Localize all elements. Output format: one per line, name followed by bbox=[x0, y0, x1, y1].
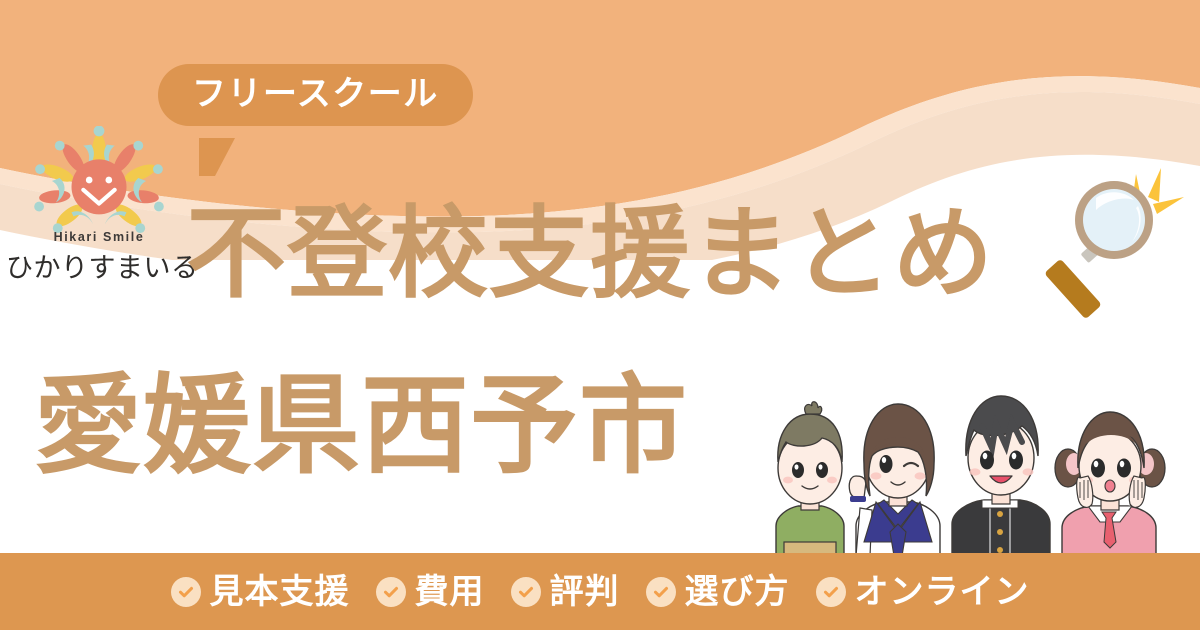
check-circle-icon bbox=[511, 577, 541, 607]
tag-label: オンライン bbox=[855, 575, 1030, 609]
check-circle-icon bbox=[376, 577, 406, 607]
magnifier-lens bbox=[1075, 181, 1153, 259]
logo-jp-text: ひかりすまいる bbox=[6, 246, 192, 285]
four-students-illustration bbox=[744, 356, 1196, 556]
tag-item: 評判 bbox=[511, 575, 620, 609]
student-boy-gakuran-uniform bbox=[952, 396, 1050, 556]
check-circle-icon bbox=[171, 577, 201, 607]
badge-bubble-tail bbox=[199, 138, 235, 176]
headline-line-2: 愛媛県西予市 bbox=[34, 372, 688, 480]
check-circle-icon bbox=[646, 577, 676, 607]
headline-line-1: 不登校支援まとめ bbox=[186, 204, 994, 304]
tag-item: 費用 bbox=[376, 575, 485, 609]
brand-logo: Hikari Smile ひかりすまいる bbox=[6, 126, 192, 285]
student-boy-green-shirt bbox=[776, 402, 844, 556]
tag-label: 見本支援 bbox=[210, 575, 350, 609]
tag-item: 選び方 bbox=[646, 575, 790, 609]
thumbnail-canvas: Hikari Smile ひかりすまいる フリースクール 不登校支援まとめ 愛媛… bbox=[0, 0, 1200, 630]
student-girl-pink-dress bbox=[1055, 412, 1165, 556]
tag-label: 評判 bbox=[550, 575, 620, 609]
student-girl-sailor-uniform bbox=[849, 404, 940, 556]
feature-tag-bar: 見本支援 費用 評判 選び方 bbox=[0, 553, 1200, 630]
logo-en-text: Hikari Smile bbox=[6, 230, 192, 244]
magnifying-glass-icon bbox=[1044, 162, 1194, 337]
sun-face bbox=[72, 159, 127, 214]
tag-item: オンライン bbox=[816, 575, 1030, 609]
tag-label: 選び方 bbox=[685, 575, 790, 609]
smiling-sun-icon bbox=[29, 126, 169, 236]
category-badge: フリースクール bbox=[158, 64, 473, 126]
tag-item: 見本支援 bbox=[171, 575, 350, 609]
check-circle-icon bbox=[816, 577, 846, 607]
tag-label: 費用 bbox=[415, 575, 485, 609]
